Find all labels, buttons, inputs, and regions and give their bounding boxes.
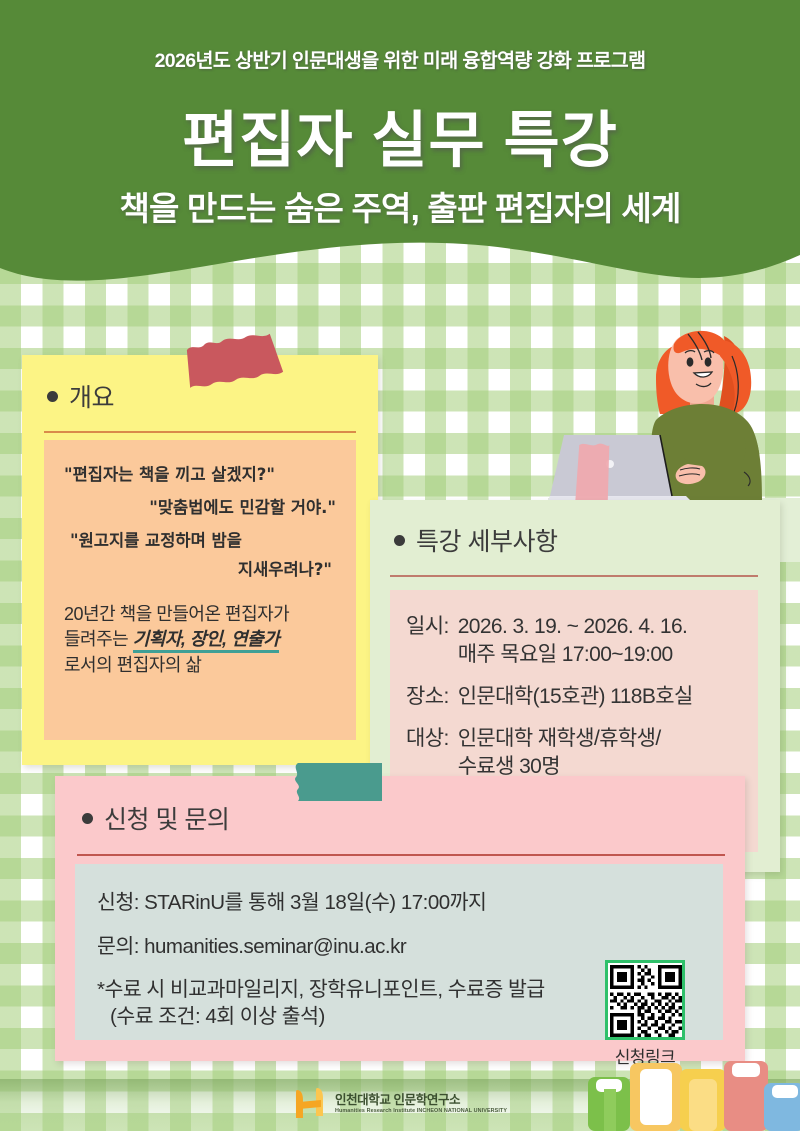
bullet-icon	[394, 535, 405, 546]
qr-code-image[interactable]	[605, 960, 685, 1040]
detail-value: 인문대학(15호관) 118B호실	[458, 684, 748, 711]
apply-contact-line: 문의: humanities.seminar@inu.ac.kr	[97, 934, 723, 961]
details-divider	[390, 575, 758, 577]
details-title-row: 특강 세부사항	[394, 522, 780, 558]
detail-row: 일시: 2026. 3. 19. ~ 2026. 4. 16. 매주 목요일 1…	[406, 614, 748, 669]
tape-red-decoration	[178, 328, 290, 405]
overview-title: 개요	[69, 378, 114, 414]
header-kicker: 2026년도 상반기 인문대생을 위한 미래 융합역량 강화 프로그램	[0, 44, 800, 73]
overview-highlight: 기획자, 장인, 연출가	[133, 629, 279, 653]
overview-body-line1: 20년간 책을 만들어온 편집자가	[64, 602, 342, 628]
overview-body-prefix: 들려주는	[64, 629, 133, 649]
header-subtitle: 책을 만드는 숨은 주역, 출판 편집자의 세계	[0, 182, 800, 230]
overview-card: 개요 "편집자는 책을 끼고 살겠지?" "맞춤법에도 민감할 거야." "원고…	[22, 355, 378, 765]
page-title: 편집자 실무 특강	[0, 90, 800, 179]
detail-label: 대상:	[406, 726, 449, 781]
overview-divider	[44, 431, 356, 433]
detail-label: 장소:	[406, 684, 449, 711]
footer-logo: 인천대학교 인문학연구소 Humanities Research Institu…	[293, 1086, 507, 1122]
tape-teal-decoration	[278, 757, 390, 820]
detail-value: 2026. 3. 19. ~ 2026. 4. 16. 매주 목요일 17:00…	[458, 614, 748, 669]
apply-note-main: *수료 시 비교과마일리지, 장학유니포인트, 수료증 발급	[97, 978, 545, 1001]
apply-title-row: 신청 및 문의	[82, 800, 745, 836]
inu-h-logo-icon	[293, 1086, 327, 1122]
bullet-icon	[47, 391, 58, 402]
books-illustration	[560, 1059, 800, 1131]
details-title: 특강 세부사항	[416, 522, 557, 558]
overview-body-line2: 들려주는 기획자, 장인, 연출가	[64, 627, 342, 653]
detail-label: 일시:	[406, 614, 449, 669]
detail-value-line: 인문대학(15호관) 118B호실	[458, 684, 748, 711]
footer-text: 인천대학교 인문학연구소 Humanities Research Institu…	[335, 1094, 507, 1115]
detail-value-line: 인문대학 재학생/휴학생/	[458, 726, 748, 753]
detail-row: 장소: 인문대학(15호관) 118B호실	[406, 684, 748, 711]
header-band: 2026년도 상반기 인문대생을 위한 미래 융합역량 강화 프로그램 편집자 …	[0, 0, 800, 330]
overview-quote-2: "맞춤법에도 민감할 거야."	[58, 499, 342, 518]
apply-howto-line: 신청: STARinU를 통해 3월 18일(수) 17:00까지	[97, 890, 723, 917]
detail-row: 대상: 인문대학 재학생/휴학생/ 수료생 30명	[406, 726, 748, 781]
detail-value: 인문대학 재학생/휴학생/ 수료생 30명	[458, 726, 748, 781]
apply-inner-panel: 신청: STARinU를 통해 3월 18일(수) 17:00까지 문의: hu…	[75, 864, 723, 1040]
apply-title: 신청 및 문의	[104, 800, 229, 836]
overview-body: 20년간 책을 만들어온 편집자가 들려주는 기획자, 장인, 연출가 로서의 …	[58, 602, 342, 679]
overview-quote-1: "편집자는 책을 끼고 살겠지?"	[58, 466, 342, 485]
apply-divider	[77, 854, 725, 856]
footer-org-name-en: Humanities Research Institute INCHEON NA…	[335, 1109, 507, 1115]
detail-value-line: 2026. 3. 19. ~ 2026. 4. 16.	[458, 614, 748, 641]
poster-root: 2026년도 상반기 인문대생을 위한 미래 융합역량 강화 프로그램 편집자 …	[0, 0, 800, 1131]
qr-section[interactable]: 신청링크	[599, 960, 691, 1068]
footer-org-name: 인천대학교 인문학연구소	[335, 1094, 507, 1107]
overview-quote-3: "원고지를 교정하며 밤을	[58, 532, 342, 551]
bullet-icon	[82, 813, 93, 824]
overview-body-line3: 로서의 편집자의 삶	[64, 653, 342, 679]
detail-value-line: 매주 목요일 17:00~19:00	[458, 642, 748, 669]
apply-card: 신청 및 문의 신청: STARinU를 통해 3월 18일(수) 17:00까…	[55, 776, 745, 1061]
overview-quote-4: 지새우려나?"	[58, 561, 342, 580]
overview-inner-panel: "편집자는 책을 끼고 살겠지?" "맞춤법에도 민감할 거야." "원고지를 …	[44, 440, 356, 740]
